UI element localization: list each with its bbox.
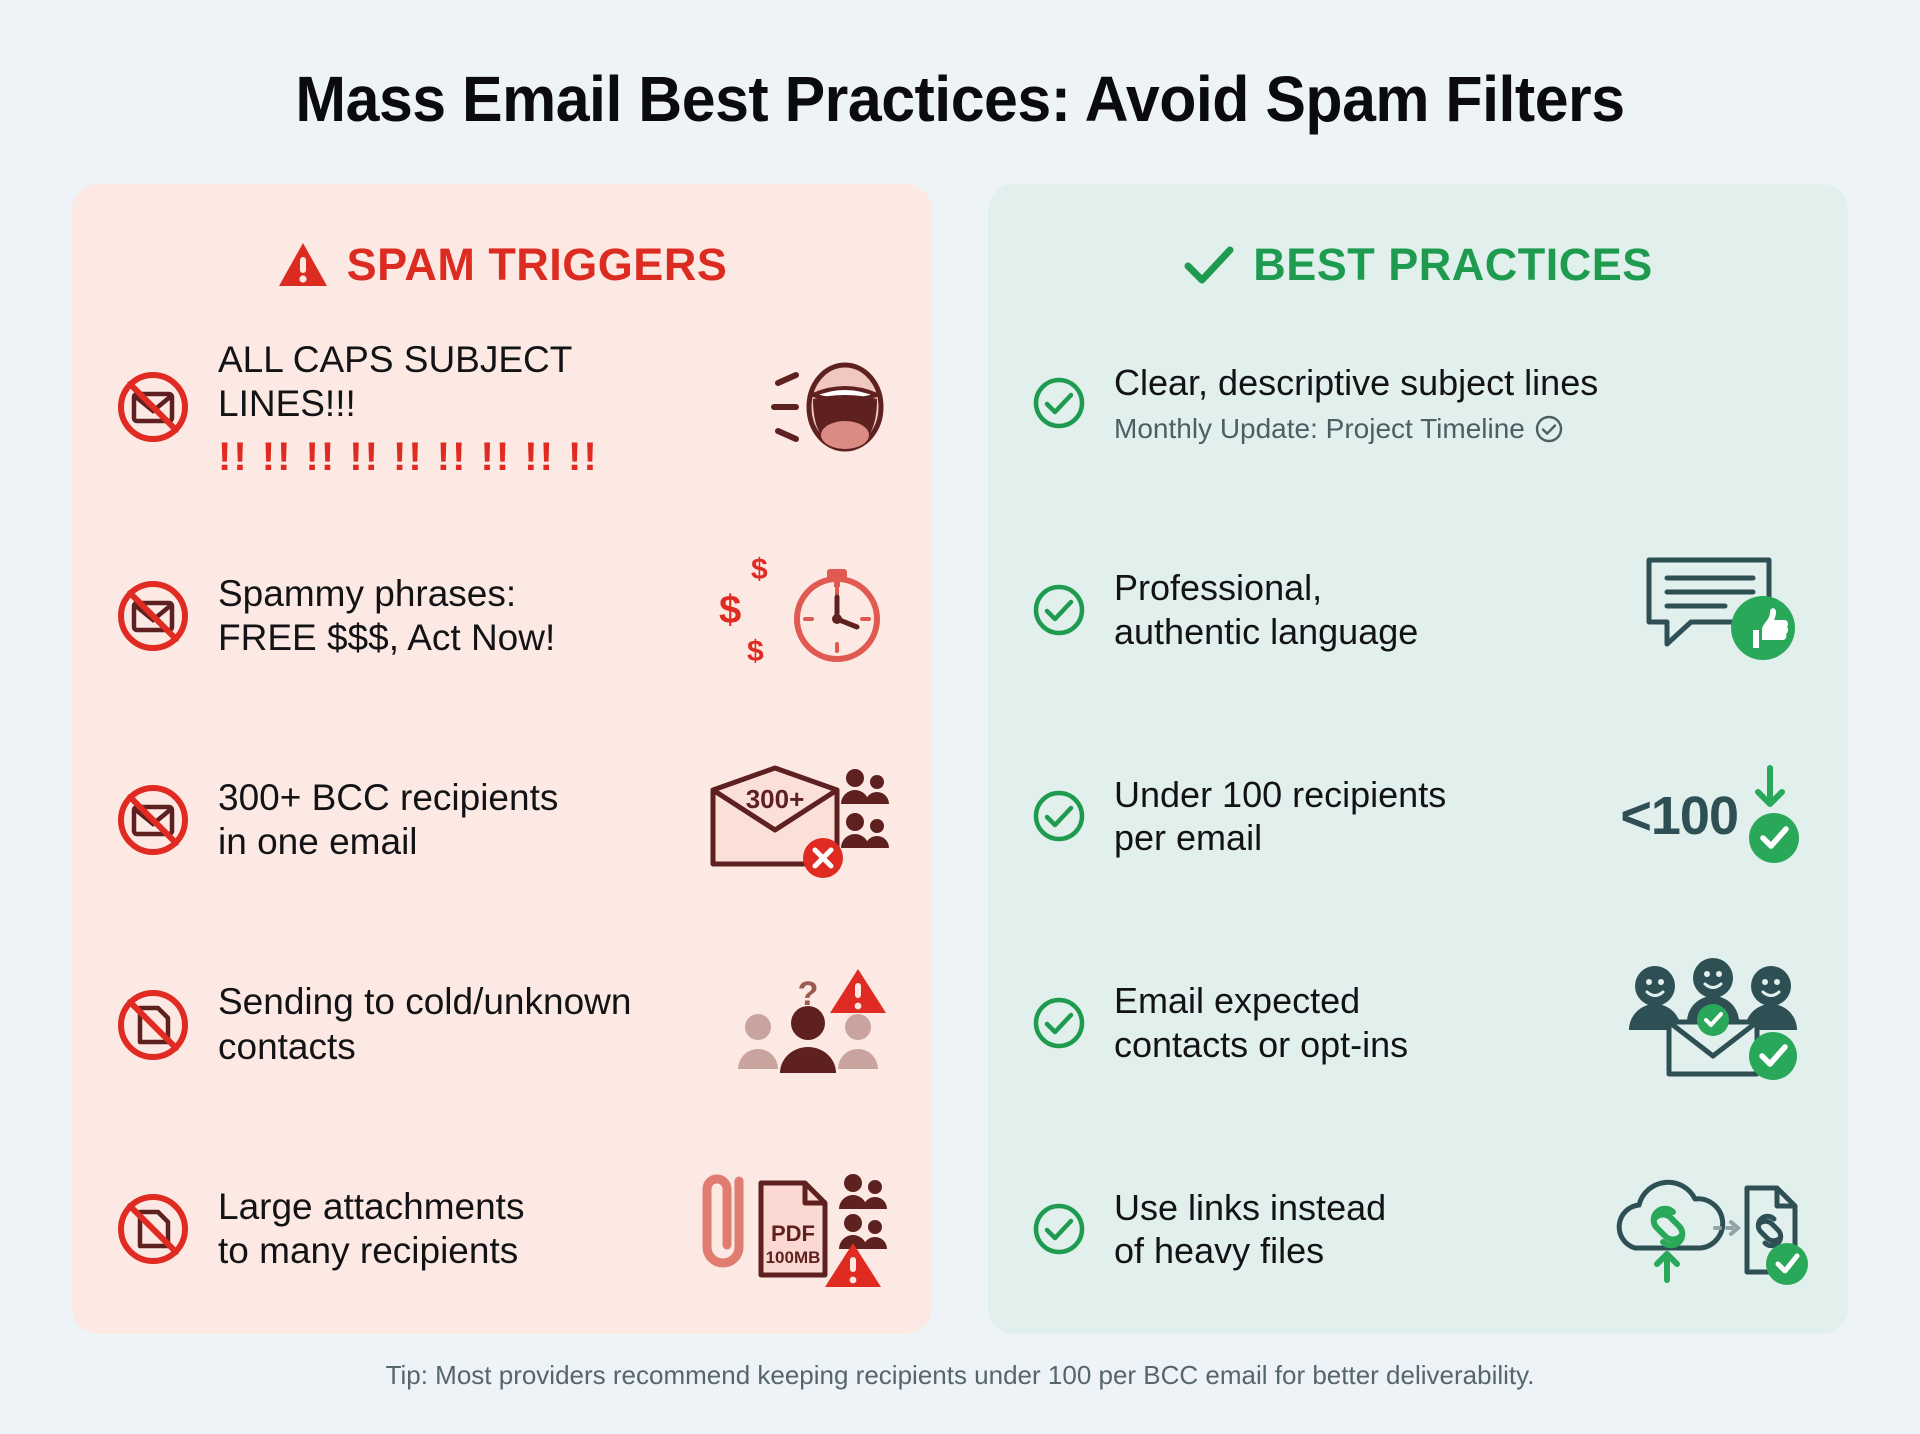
question-mark-label: ? bbox=[798, 975, 819, 1013]
best-practice-line2: authentic language bbox=[1114, 610, 1590, 653]
best-practice-line1: Under 100 recipients bbox=[1114, 773, 1590, 816]
best-practice-row: Clear, descriptive subject lines Monthly… bbox=[1030, 338, 1806, 468]
best-practices-header: BEST PRACTICES bbox=[1030, 232, 1806, 298]
shouting-mouth-icon bbox=[700, 347, 890, 467]
best-practice-row: Email expected contacts or opt-ins bbox=[1030, 958, 1806, 1088]
no-envelope-icon bbox=[114, 579, 192, 653]
paperclip-pdf-attachment-warning-icon: PDF 100MB bbox=[660, 1169, 890, 1289]
best-practices-title: BEST PRACTICES bbox=[1253, 239, 1653, 291]
spam-trigger-text-block: Large attachments to many recipients bbox=[218, 1185, 634, 1274]
spam-trigger-text-block: Spammy phrases: FREE $$$, Act Now! bbox=[218, 572, 674, 661]
best-practices-panel: BEST PRACTICES Clear, descriptive subjec… bbox=[988, 184, 1848, 1334]
svg-text:$: $ bbox=[751, 553, 768, 586]
speech-bubble-thumbs-up-icon bbox=[1616, 550, 1806, 670]
under-100-label: <100 bbox=[1620, 785, 1738, 847]
spam-trigger-row: Large attachments to many recipients PDF… bbox=[114, 1164, 890, 1294]
spam-trigger-row: Spammy phrases: FREE $$$, Act Now! $ $ $ bbox=[114, 551, 890, 681]
spam-trigger-text-block: ALL CAPS SUBJECT LINES!!! !! !! !! !! !!… bbox=[218, 338, 674, 477]
circle-check-icon bbox=[1030, 996, 1088, 1050]
pdf-label: PDF bbox=[771, 1221, 815, 1246]
exclamation-decoration: !! !! !! !! !! !! !! !! !! bbox=[218, 437, 674, 477]
envelope-300-plus-group-x-icon: 300+ bbox=[660, 760, 890, 880]
best-practice-subtext: Monthly Update: Project Timeline bbox=[1114, 412, 1525, 446]
spam-triggers-title: SPAM TRIGGERS bbox=[347, 239, 728, 291]
spam-triggers-panel: SPAM TRIGGERS ALL CAPS SUBJECT LINE bbox=[72, 184, 932, 1334]
best-practice-text-block: Professional, authentic language bbox=[1114, 566, 1590, 652]
best-practice-line1: Use links instead bbox=[1114, 1186, 1550, 1229]
spam-triggers-header: SPAM TRIGGERS bbox=[114, 232, 890, 298]
circle-check-icon bbox=[1030, 789, 1088, 843]
spam-trigger-row: Sending to cold/unknown contacts bbox=[114, 960, 890, 1090]
spam-trigger-text-block: 300+ BCC recipients in one email bbox=[218, 776, 634, 865]
no-document-icon bbox=[114, 988, 192, 1062]
spam-trigger-line2: in one email bbox=[218, 820, 634, 864]
envelope-count-label: 300+ bbox=[746, 784, 805, 814]
spam-trigger-line2: to many recipients bbox=[218, 1229, 634, 1273]
spam-trigger-line1: Sending to cold/unknown bbox=[218, 980, 674, 1024]
no-document-icon bbox=[114, 1192, 192, 1266]
unknown-contacts-warning-icon: ? bbox=[700, 965, 890, 1085]
spam-trigger-row: ALL CAPS SUBJECT LINES!!! !! !! !! !! !!… bbox=[114, 338, 890, 477]
best-practice-text-block: Under 100 recipients per email bbox=[1114, 773, 1590, 859]
no-envelope-icon bbox=[114, 370, 192, 444]
best-practice-row: Under 100 recipients per email <100 bbox=[1030, 751, 1806, 881]
circle-check-icon bbox=[1030, 376, 1088, 430]
best-practice-line2: of heavy files bbox=[1114, 1229, 1550, 1272]
circle-check-icon bbox=[1030, 583, 1088, 637]
page-title: Mass Email Best Practices: Avoid Spam Fi… bbox=[116, 62, 1803, 136]
best-practices-list: Clear, descriptive subject lines Monthly… bbox=[1030, 332, 1806, 1294]
cloud-link-document-check-icon bbox=[1576, 1169, 1806, 1289]
infographic-page: Mass Email Best Practices: Avoid Spam Fi… bbox=[0, 0, 1920, 1434]
best-practice-line1: Email expected bbox=[1114, 979, 1550, 1022]
spam-trigger-line1: Spammy phrases: bbox=[218, 572, 674, 616]
svg-text:$: $ bbox=[747, 635, 764, 668]
circle-check-small-icon bbox=[1535, 415, 1563, 443]
spam-trigger-label: ALL CAPS SUBJECT LINES!!! bbox=[218, 338, 674, 427]
footer-tip: Tip: Most providers recommend keeping re… bbox=[72, 1360, 1848, 1391]
circle-check-icon bbox=[1030, 1202, 1088, 1256]
best-practice-text-block: Clear, descriptive subject lines Monthly… bbox=[1114, 361, 1806, 446]
best-practice-label: Clear, descriptive subject lines bbox=[1114, 361, 1806, 404]
best-practice-text-block: Email expected contacts or opt-ins bbox=[1114, 979, 1550, 1065]
spam-trigger-line1: 300+ BCC recipients bbox=[218, 776, 634, 820]
best-practice-line1: Professional, bbox=[1114, 566, 1590, 609]
best-practice-text-block: Use links instead of heavy files bbox=[1114, 1186, 1550, 1272]
filesize-label: 100MB bbox=[766, 1248, 821, 1267]
spam-trigger-row: 300+ BCC recipients in one email 300+ bbox=[114, 755, 890, 885]
warning-triangle-icon bbox=[277, 241, 329, 289]
spam-trigger-line1: Large attachments bbox=[218, 1185, 634, 1229]
dollar-signs-stopwatch-icon: $ $ $ bbox=[700, 556, 890, 676]
best-practice-subtext-row: Monthly Update: Project Timeline bbox=[1114, 412, 1806, 446]
best-practice-row: Professional, authentic language bbox=[1030, 545, 1806, 675]
best-practice-line2: contacts or opt-ins bbox=[1114, 1023, 1550, 1066]
no-envelope-icon bbox=[114, 783, 192, 857]
under-100-arrow-down-check-icon: <100 bbox=[1616, 756, 1806, 876]
best-practice-line2: per email bbox=[1114, 816, 1590, 859]
panels-container: SPAM TRIGGERS ALL CAPS SUBJECT LINE bbox=[72, 184, 1848, 1334]
people-group-envelope-check-icon bbox=[1576, 963, 1806, 1083]
spam-trigger-text-block: Sending to cold/unknown contacts bbox=[218, 980, 674, 1069]
spam-trigger-line2: FREE $$$, Act Now! bbox=[218, 616, 674, 660]
best-practice-row: Use links instead of heavy files bbox=[1030, 1164, 1806, 1294]
spam-trigger-line2: contacts bbox=[218, 1025, 674, 1069]
svg-text:$: $ bbox=[719, 588, 741, 632]
spam-triggers-list: ALL CAPS SUBJECT LINES!!! !! !! !! !! !!… bbox=[114, 332, 890, 1294]
checkmark-icon bbox=[1183, 243, 1235, 287]
